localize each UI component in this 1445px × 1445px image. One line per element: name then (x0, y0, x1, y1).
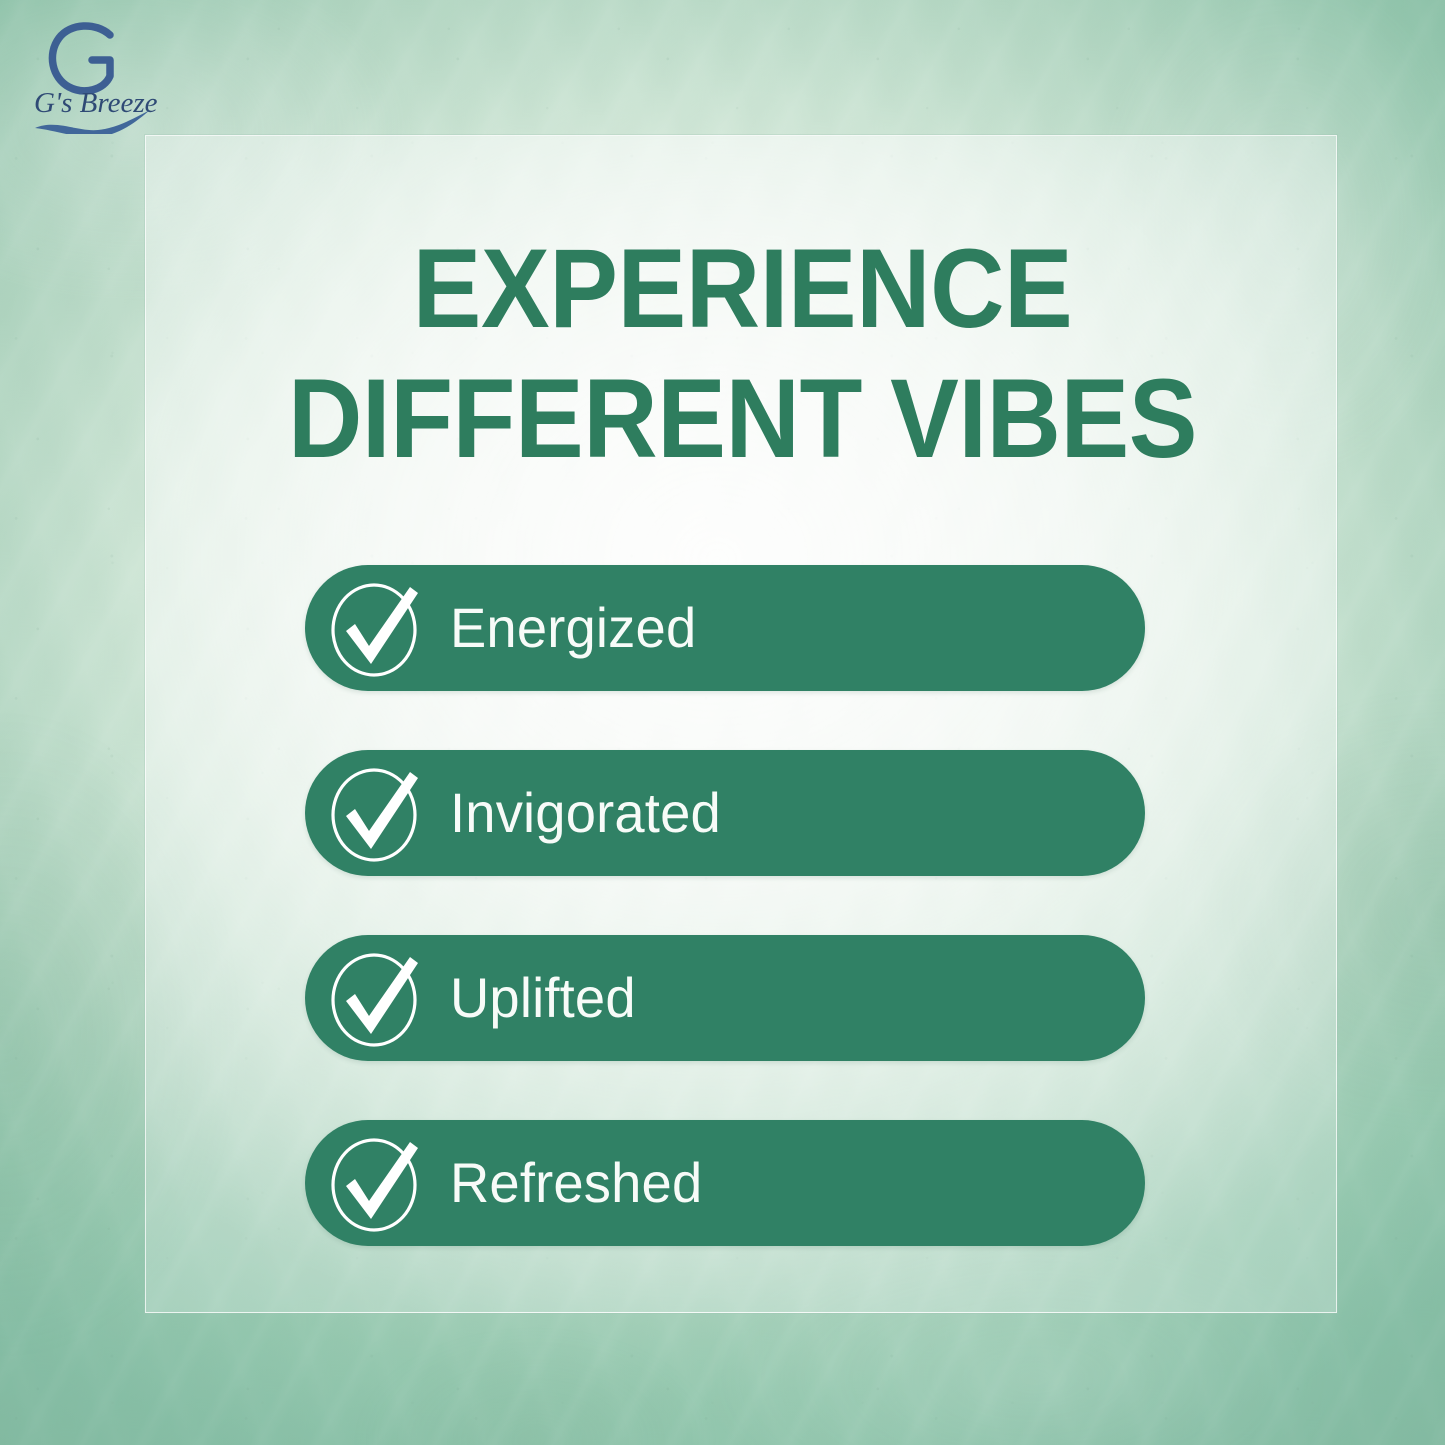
list-item-label: Invigorated (450, 785, 721, 841)
list-item-label: Uplifted (450, 970, 636, 1026)
check-circle-icon (322, 576, 426, 680)
promo-graphic-canvas: G's Breeze EXPERIENCE DIFFERENT VIBES En… (0, 0, 1445, 1445)
page-title: EXPERIENCE DIFFERENT VIBES (211, 224, 1274, 484)
list-item[interactable]: Uplifted (305, 935, 1145, 1061)
brand-logo: G's Breeze (26, 16, 166, 134)
list-item-label: Refreshed (450, 1155, 702, 1211)
list-item[interactable]: Refreshed (305, 1120, 1145, 1246)
benefits-list: Energized Invigorated Uplifted (305, 565, 1145, 1246)
check-circle-icon (322, 946, 426, 1050)
list-item-label: Energized (450, 600, 696, 656)
logo-wordmark: G's Breeze (34, 87, 158, 119)
list-item[interactable]: Invigorated (305, 750, 1145, 876)
check-circle-icon (322, 761, 426, 865)
list-item[interactable]: Energized (305, 565, 1145, 691)
logo-g-monogram-icon (52, 26, 110, 91)
check-circle-icon (322, 1131, 426, 1235)
